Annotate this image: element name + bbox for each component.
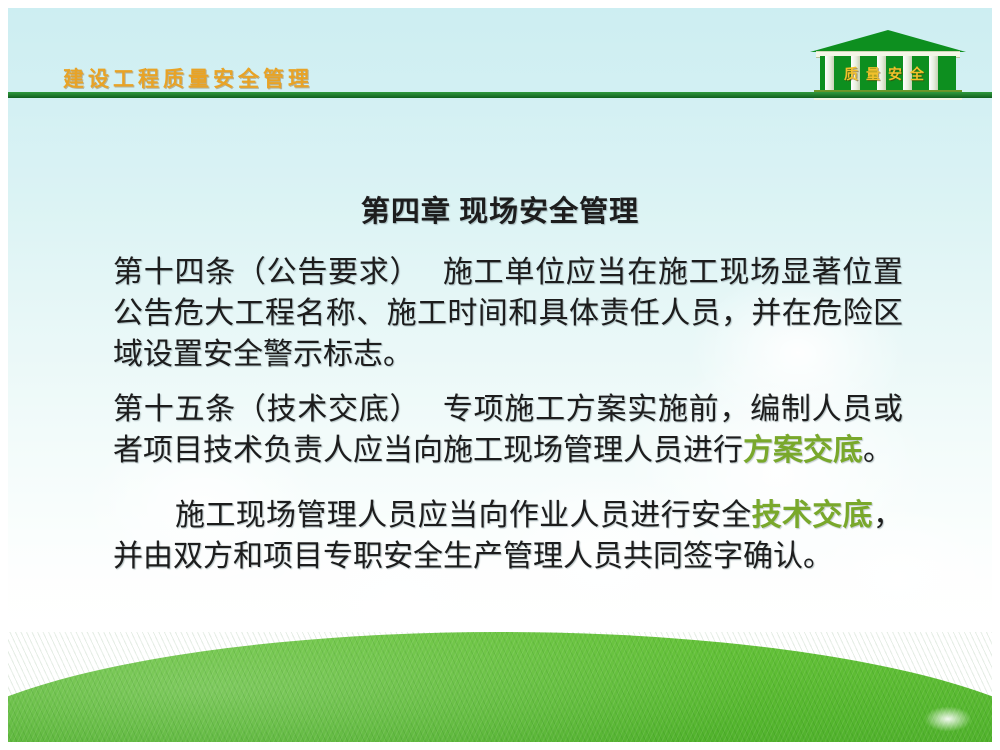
slide: 建设工程质量安全管理 质量安全 第四章 现场安全管理 第十四条（公告要求）施工单… bbox=[0, 0, 1000, 750]
paragraph-body-after: 。 bbox=[863, 434, 893, 467]
slide-canvas: 建设工程质量安全管理 质量安全 第四章 现场安全管理 第十四条（公告要求）施工单… bbox=[8, 8, 992, 742]
slide-content: 第四章 现场安全管理 第十四条（公告要求）施工单位应当在施工现场显著位置公告危大… bbox=[8, 100, 992, 660]
temple-roof-icon bbox=[810, 30, 966, 52]
header-divider bbox=[8, 92, 992, 98]
paragraph-article-15: 第十五条（技术交底）专项施工方案实施前，编制人员或者项目技术负责人应当向施工现场… bbox=[113, 389, 903, 471]
grass-footer bbox=[8, 632, 992, 742]
highlight-fangan-jiaodi: 方案交底 bbox=[743, 434, 863, 467]
grass-texture bbox=[8, 632, 992, 742]
logo-label: 质量安全 bbox=[824, 64, 952, 84]
header-title: 建设工程质量安全管理 bbox=[63, 63, 313, 93]
quality-safety-temple-logo: 质量安全 bbox=[808, 30, 968, 100]
highlight-jishu-jiaodi: 技术交底 bbox=[752, 499, 873, 532]
paragraph-article-14: 第十四条（公告要求）施工单位应当在施工现场显著位置公告危大工程名称、施工时间和具… bbox=[113, 252, 903, 375]
grass-hill bbox=[8, 632, 992, 742]
paragraph-body-before: 施工现场管理人员应当向作业人员进行安全 bbox=[175, 499, 752, 532]
paragraph-lead: 第十四条（公告要求） bbox=[113, 256, 420, 289]
slide-body: 第十四条（公告要求）施工单位应当在施工现场显著位置公告危大工程名称、施工时间和具… bbox=[113, 252, 903, 591]
slide-header: 建设工程质量安全管理 质量安全 bbox=[8, 8, 992, 100]
page-title: 第四章 现场安全管理 bbox=[8, 188, 992, 230]
paragraph-lead: 第十五条（技术交底） bbox=[113, 393, 420, 426]
white-flower-cluster bbox=[916, 702, 980, 736]
paragraph-article-15-continued: 施工现场管理人员应当向作业人员进行安全技术交底，并由双方和项目专职安全生产管理人… bbox=[113, 495, 903, 577]
